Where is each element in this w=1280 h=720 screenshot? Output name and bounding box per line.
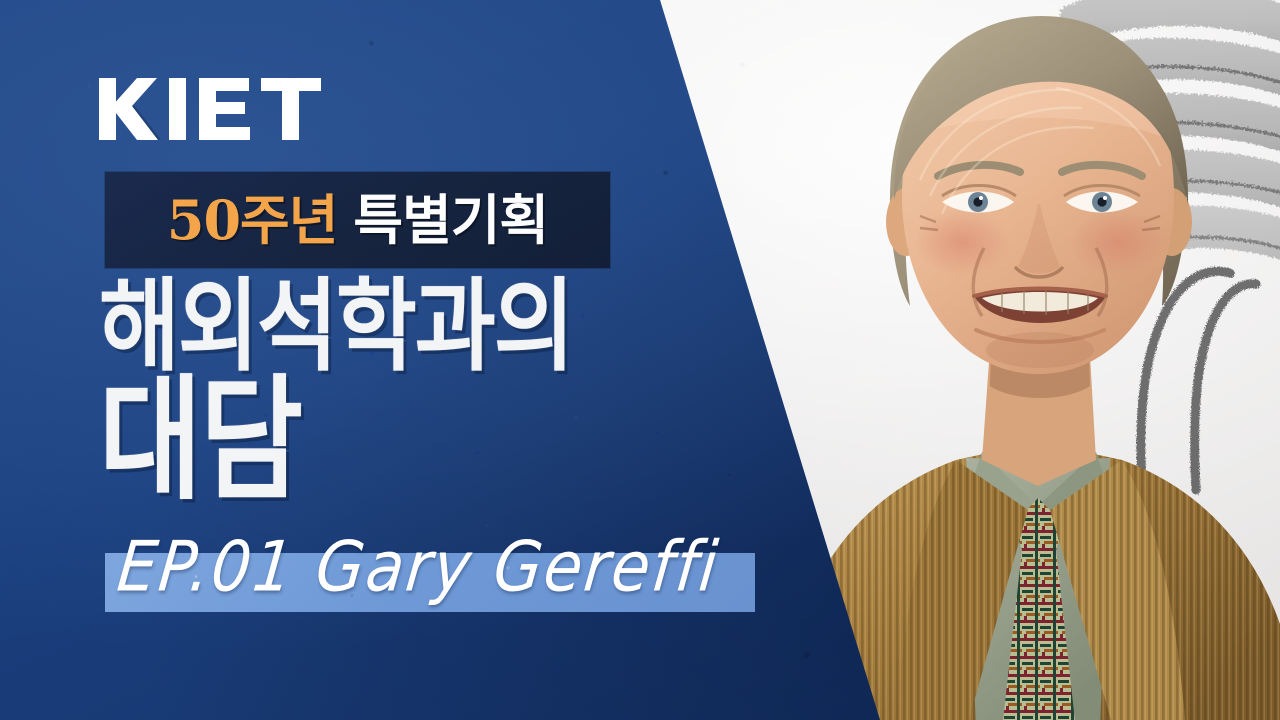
episode-label: EP.01 Gary Gereffi	[114, 532, 821, 601]
title-line-1: 해외석학과의	[99, 278, 719, 374]
page-title: 해외석학과의 대담	[99, 278, 719, 484]
badge-anniversary-number: 50주년	[167, 193, 338, 247]
kiet-logo: KIET	[99, 78, 349, 140]
badge-special-program-label: 특별기획	[353, 193, 548, 247]
thumbnail-canvas: Smiling older man with gray-blond hair w…	[0, 0, 1280, 720]
title-line-2: 대담	[99, 376, 719, 505]
anniversary-badge: 50주년 특별기획	[105, 172, 610, 268]
